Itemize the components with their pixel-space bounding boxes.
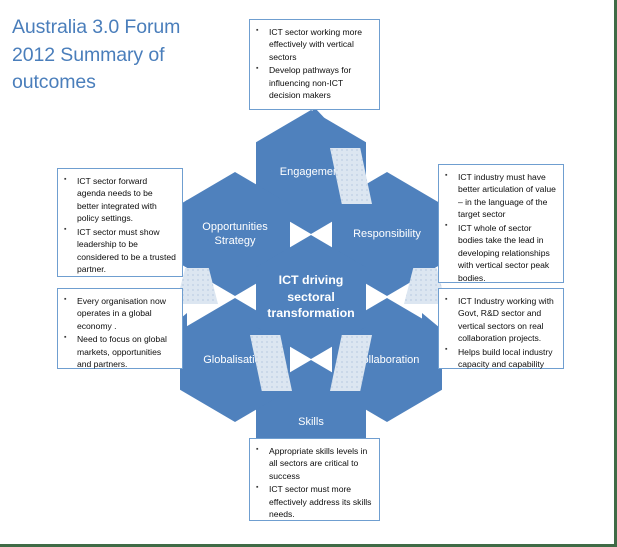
callout-engagement: ICT sector working more effectively with… [249, 19, 380, 110]
callout-responsibility: ICT industry must have better articulati… [438, 164, 564, 283]
callout-opportunities: ICT sector forward agenda needs to be be… [57, 168, 183, 277]
list-item: ICT Industry working with Govt, R&D sect… [443, 295, 557, 345]
list-item: Appropriate skills levels in all sectors… [254, 445, 373, 482]
callout-engagement-list: ICT sector working more effectively with… [254, 26, 373, 102]
list-item: ICT sector working more effectively with… [254, 26, 373, 63]
callout-collaboration-list: ICT Industry working with Govt, R&D sect… [443, 295, 557, 371]
hex-engagement-label: Engagement [280, 165, 342, 179]
list-item: ICT sector must show leadership to be co… [62, 226, 176, 276]
callout-globalisation: Every organisation now operates in a glo… [57, 288, 183, 369]
hex-opportunities-label: Opportunities Strategy [191, 220, 279, 248]
list-item: ICT sector must more effectively address… [254, 483, 373, 520]
page-title: Australia 3.0 Forum 2012 Summary of outc… [12, 14, 227, 97]
hex-responsibility-label: Responsibility [353, 227, 421, 241]
callout-skills-list: Appropriate skills levels in all sectors… [254, 445, 373, 521]
hex-skills-label: Skills [298, 415, 324, 429]
list-item: ICT whole of sector bodies take the lead… [443, 222, 557, 284]
list-item: ICT industry must have better articulati… [443, 171, 557, 221]
callout-responsibility-list: ICT industry must have better articulati… [443, 171, 557, 284]
hexagon-cluster: Engagement Responsibility Collaboration … [180, 110, 442, 422]
list-item: Develop pathways for influencing non-ICT… [254, 64, 373, 101]
list-item: Every organisation now operates in a glo… [62, 295, 176, 332]
list-item: Need to focus on global markets, opportu… [62, 333, 176, 370]
list-item: Helps build local industry capacity and … [443, 346, 557, 371]
callout-collaboration: ICT Industry working with Govt, R&D sect… [438, 288, 564, 369]
list-item: ICT sector forward agenda needs to be be… [62, 175, 176, 225]
slide-canvas: Australia 3.0 Forum 2012 Summary of outc… [0, 0, 617, 547]
callout-skills: Appropriate skills levels in all sectors… [249, 438, 380, 521]
callout-opportunities-list: ICT sector forward agenda needs to be be… [62, 175, 176, 276]
callout-globalisation-list: Every organisation now operates in a glo… [62, 295, 176, 371]
hex-center-label: ICT driving sectoral transformation [267, 272, 355, 321]
